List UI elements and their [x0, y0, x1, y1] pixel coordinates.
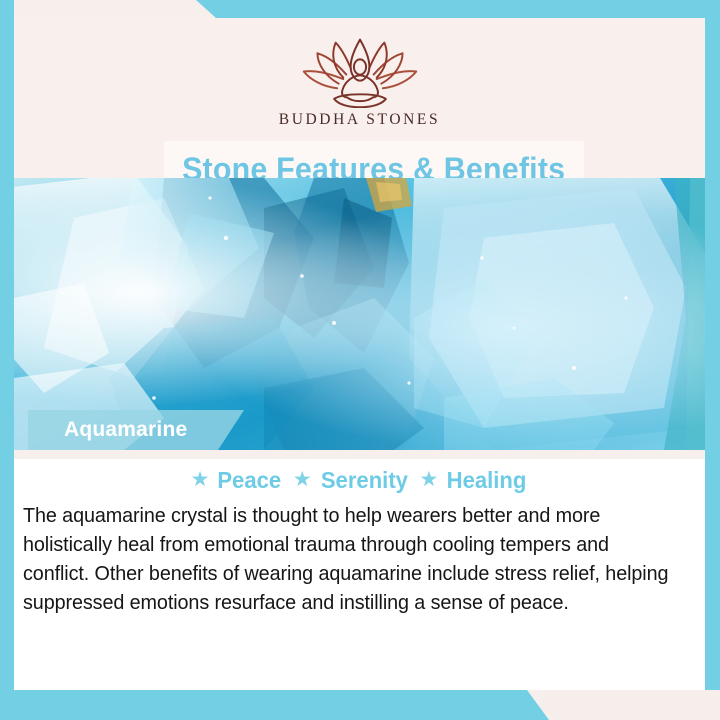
keyword-label: Serenity [321, 467, 408, 494]
stone-name-label: Aquamarine [28, 418, 187, 442]
frame-border-right [705, 0, 720, 720]
keyword-list: ★ Peace ★ Serenity ★ Healing [14, 467, 705, 494]
content-panel: ★ Peace ★ Serenity ★ Healing The aquamar… [14, 450, 705, 690]
header-section: BUDDHA STONES Stone Features & Benefits [14, 18, 705, 178]
frame-border-left [0, 0, 14, 720]
frame-border-top [0, 0, 720, 18]
brand-logo: BUDDHA STONES [14, 32, 705, 129]
divider-strip [14, 450, 705, 459]
description-paragraph: The aquamarine crystal is thought to hel… [23, 502, 680, 618]
keyword-item-peace: ★ Peace [191, 467, 283, 494]
brand-name: BUDDHA STONES [279, 111, 440, 129]
star-icon: ★ [293, 469, 312, 490]
lotus-meditation-figure-icon [284, 32, 436, 108]
star-icon: ★ [420, 469, 439, 490]
keyword-label: Peace [218, 467, 282, 494]
frame-corner-cream [527, 690, 720, 720]
keyword-item-healing: ★ Healing [420, 467, 529, 494]
infographic-page: BUDDHA STONES Stone Features & Benefits [0, 0, 720, 720]
stone-name-band: Aquamarine [28, 410, 244, 450]
star-icon: ★ [191, 469, 210, 490]
keyword-item-serenity: ★ Serenity [293, 467, 410, 494]
keyword-label: Healing [447, 467, 527, 494]
aquamarine-crystal-illustration [14, 178, 705, 450]
stone-photo: Aquamarine [14, 178, 705, 450]
